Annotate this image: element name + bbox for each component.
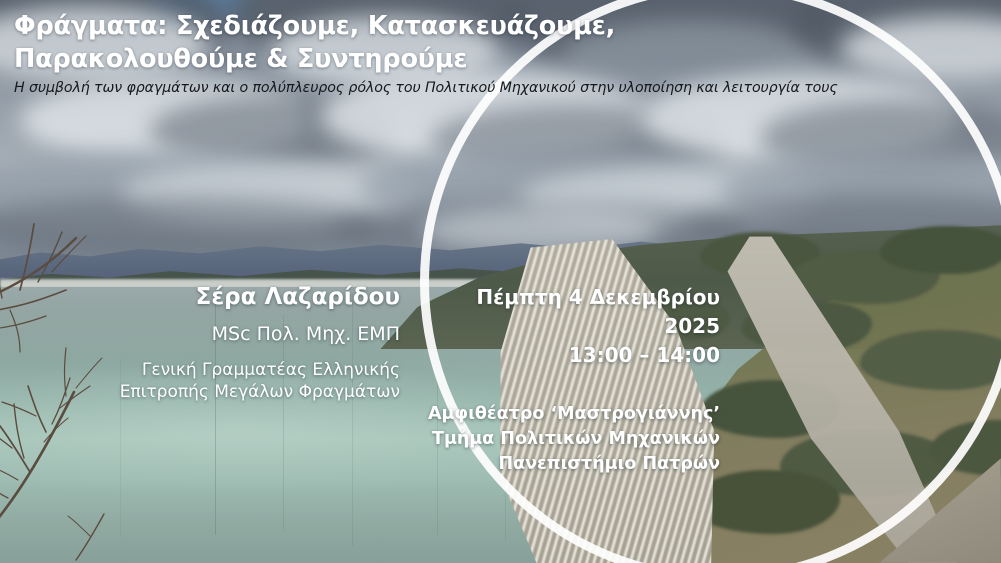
event-when: Πέμπτη 4 Δεκεμβρίου 2025 13:00 – 14:00: [420, 283, 720, 370]
event-time: 13:00 – 14:00: [420, 341, 720, 370]
speaker-role-line-1: Γενική Γραμματέας Ελληνικής: [0, 360, 400, 382]
speaker-name: Σέρα Λαζαρίδου: [0, 283, 400, 312]
title-line-2: Παρακολουθούμε & Συντηρούμε: [14, 44, 467, 74]
poster-header: Φράγματα: Σχεδιάζουμε, Κατασκευάζουμε, Π…: [0, 0, 1001, 106]
title-line-1: Φράγματα: Σχεδιάζουμε, Κατασκευάζουμε,: [14, 11, 615, 41]
venue-line-2: Τμήμα Πολιτικών Μηχανικών: [420, 427, 720, 452]
speaker-degree: MSc Πολ. Μηχ. ΕΜΠ: [0, 322, 400, 347]
speaker-role: Γενική Γραμματέας Ελληνικής Επιτροπής Με…: [0, 360, 400, 404]
venue-line-1: Αμφιθέατρο ‘Μαστρογιάννης’: [420, 402, 720, 427]
speaker-role-line-2: Επιτροπής Μεγάλων Φραγμάτων: [0, 382, 400, 404]
venue-line-3: Πανεπιστήμιο Πατρών: [420, 452, 720, 477]
poster-subtitle: Η συμβολή των φραγμάτων και ο πολύπλευρο…: [14, 80, 987, 98]
event-date: Πέμπτη 4 Δεκεμβρίου 2025: [420, 283, 720, 341]
event-venue: Αμφιθέατρο ‘Μαστρογιάννης’ Τμήμα Πολιτικ…: [420, 402, 720, 477]
event-details-block: Πέμπτη 4 Δεκεμβρίου 2025 13:00 – 14:00 Α…: [420, 283, 720, 477]
speaker-block: Σέρα Λαζαρίδου MSc Πολ. Μηχ. ΕΜΠ Γενική …: [0, 283, 400, 404]
event-poster: Φράγματα: Σχεδιάζουμε, Κατασκευάζουμε, Π…: [0, 0, 1001, 563]
page-title: Φράγματα: Σχεδιάζουμε, Κατασκευάζουμε, Π…: [14, 10, 987, 75]
